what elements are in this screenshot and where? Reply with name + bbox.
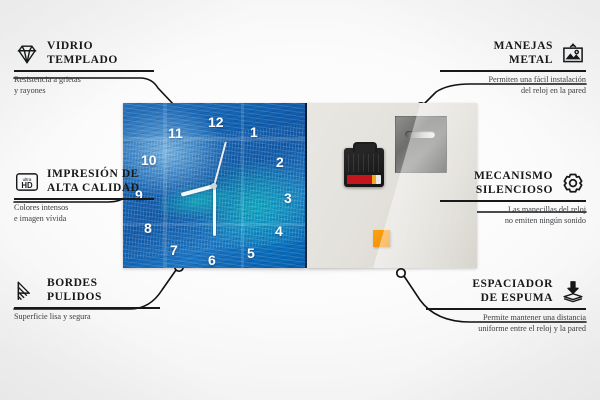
feature-title-line1: VIDRIO bbox=[47, 40, 118, 54]
feature-title-line2: METAL bbox=[494, 54, 553, 68]
feature-mecanismo-silencioso[interactable]: MECANISMO SILENCIOSO Las manecillas del … bbox=[440, 170, 586, 227]
mechanism-detail bbox=[348, 154, 380, 172]
feature-desc-line2: del reloj en la pared bbox=[440, 86, 586, 97]
clock-numeral-12: 12 bbox=[208, 115, 224, 129]
feature-divider bbox=[440, 200, 586, 202]
clock-center-pin bbox=[211, 183, 217, 189]
product-image: 12 1 2 3 4 5 6 7 8 9 10 11 bbox=[123, 103, 477, 268]
metal-hanger-plate bbox=[395, 116, 447, 173]
clock-numeral-3: 3 bbox=[284, 191, 292, 205]
clock-numeral-2: 2 bbox=[276, 155, 284, 169]
feature-divider bbox=[440, 70, 586, 72]
feature-impresion-alta-calidad[interactable]: ultra HD IMPRESIÓN DE ALTA CALIDAD Color… bbox=[14, 168, 154, 225]
feature-desc-line1: Las manecillas del reloj bbox=[440, 205, 586, 216]
feature-title-line2: PULIDOS bbox=[47, 291, 102, 305]
feature-divider bbox=[14, 70, 154, 72]
clock-pattern-band bbox=[123, 137, 305, 141]
clock-numeral-10: 10 bbox=[141, 153, 157, 167]
feature-title-line1: MANEJAS bbox=[494, 40, 553, 54]
feature-espaciador-de-espuma[interactable]: ESPACIADOR DE ESPUMA Permite mantener un… bbox=[426, 278, 586, 335]
clock-numeral-4: 4 bbox=[275, 224, 283, 238]
feature-desc-line2: no emiten ningún sonido bbox=[440, 216, 586, 227]
mechanism-battery-label bbox=[347, 175, 381, 184]
clock-numeral-6: 6 bbox=[208, 253, 216, 267]
feature-desc-line1: Resistencia a grietas bbox=[14, 75, 154, 86]
feature-title-line2: ALTA CALIDAD bbox=[47, 182, 140, 196]
feature-desc-line1: Superficie lisa y segura bbox=[14, 312, 160, 323]
gear-icon bbox=[560, 171, 586, 197]
feature-divider bbox=[426, 308, 586, 310]
feature-desc-line1: Permite mantener una distancia bbox=[426, 313, 586, 324]
feature-bordes-pulidos[interactable]: BORDES PULIDOS Superficie lisa y segura bbox=[14, 277, 160, 323]
ultra-hd-icon: ultra HD bbox=[14, 169, 40, 195]
clock-pattern-band bbox=[241, 103, 244, 268]
mechanism-hook-tab bbox=[353, 142, 377, 152]
clock-numeral-11: 11 bbox=[168, 126, 183, 140]
feature-divider bbox=[14, 198, 154, 200]
svg-text:HD: HD bbox=[21, 180, 33, 189]
hanger-slot bbox=[405, 131, 435, 138]
clock-mechanism-box bbox=[344, 148, 384, 187]
infographic-canvas: 12 1 2 3 4 5 6 7 8 9 10 11 bbox=[0, 0, 600, 400]
feature-manejas-metal[interactable]: MANEJAS METAL Permiten una fácil instala… bbox=[440, 40, 586, 97]
feature-desc-line2: y rayones bbox=[14, 86, 154, 97]
feature-title-line2: SILENCIOSO bbox=[474, 184, 553, 198]
clock-numeral-1: 1 bbox=[250, 125, 258, 139]
clock-numeral-5: 5 bbox=[247, 246, 255, 260]
picture-frame-hanging-icon bbox=[560, 41, 586, 67]
feature-vidrio-templado[interactable]: VIDRIO TEMPLADO Resistencia a grietas y … bbox=[14, 40, 154, 97]
clock-pattern-band bbox=[163, 103, 167, 268]
feature-desc-line1: Permiten una fácil instalación bbox=[440, 75, 586, 86]
feature-divider bbox=[14, 307, 160, 309]
feature-title-line1: MECANISMO bbox=[474, 170, 553, 184]
diamond-icon bbox=[14, 41, 40, 67]
clock-numeral-7: 7 bbox=[170, 243, 178, 257]
feature-title-line2: DE ESPUMA bbox=[472, 292, 553, 306]
feature-desc-line2: uniforme entre el reloj y la pared bbox=[426, 324, 586, 335]
down-arrow-pad-icon bbox=[560, 279, 586, 305]
feature-title-line2: TEMPLADO bbox=[47, 54, 118, 68]
clock-minute-hand bbox=[213, 186, 216, 236]
feature-title-line1: IMPRESIÓN DE bbox=[47, 168, 140, 182]
feature-title-line1: BORDES bbox=[47, 277, 102, 291]
feature-title-line1: ESPACIADOR bbox=[472, 278, 553, 292]
polished-edges-icon bbox=[14, 278, 40, 304]
feature-desc-line1: Colores intensos bbox=[14, 203, 154, 214]
foam-spacer-pad bbox=[373, 230, 390, 247]
feature-desc-line2: e imagen vívida bbox=[14, 214, 154, 225]
